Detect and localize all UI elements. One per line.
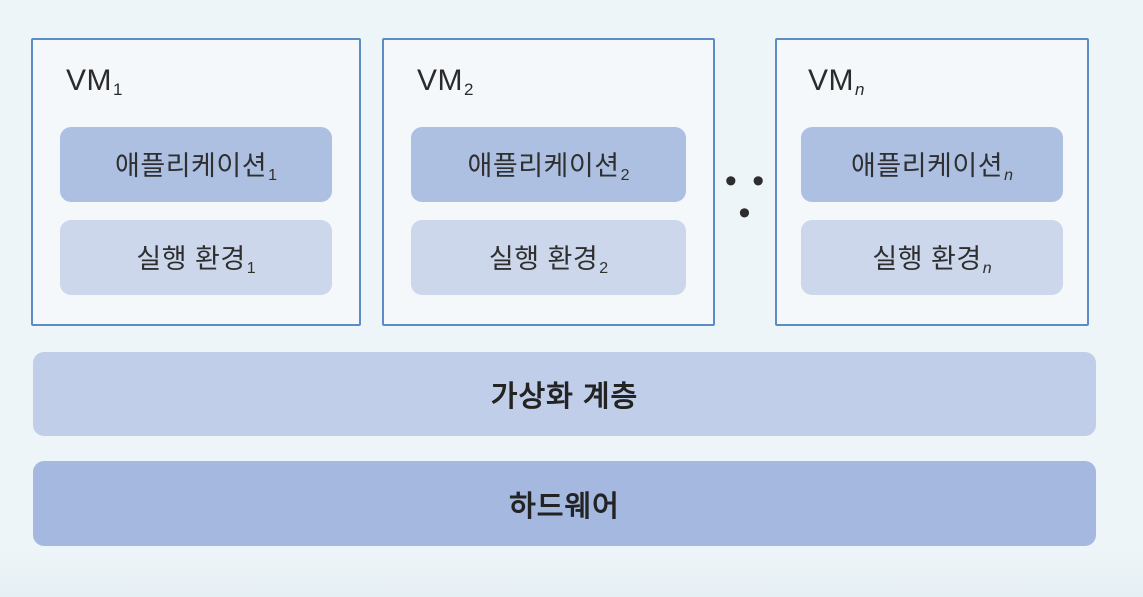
vm-label-1: VM1 <box>66 64 122 100</box>
vm-1-application-text: 애플리케이션 <box>115 151 267 181</box>
vm-box-n: VMn 애플리케이션n 실행 환경n <box>775 38 1089 326</box>
hardware-layer-bar: 하드웨어 <box>33 461 1096 546</box>
vm-2-application-subscript: 2 <box>621 167 630 184</box>
vm-box-2: VM2 애플리케이션2 실행 환경2 <box>382 38 715 326</box>
vm-n-application-text: 애플리케이션 <box>851 151 1003 181</box>
vm-label-2-name: VM <box>417 64 463 97</box>
vm-2-runtime-subscript: 2 <box>599 260 608 277</box>
vm-1-runtime-layer: 실행 환경1 <box>60 220 332 295</box>
vm-box-1: VM1 애플리케이션1 실행 환경1 <box>31 38 361 326</box>
vm-n-application-layer: 애플리케이션n <box>801 127 1063 202</box>
vm-n-application-subscript: n <box>1004 167 1013 184</box>
vm-label-1-subscript: 1 <box>113 80 122 99</box>
vm-1-application-label: 애플리케이션1 <box>115 144 277 185</box>
hardware-layer-label: 하드웨어 <box>509 483 620 525</box>
vm-2-application-label: 애플리케이션2 <box>468 144 630 185</box>
vm-2-runtime-text: 실행 환경 <box>489 244 598 274</box>
vm-label-n-subscript: n <box>855 80 864 99</box>
vm-label-2-subscript: 2 <box>464 80 473 99</box>
vm-1-application-layer: 애플리케이션1 <box>60 127 332 202</box>
vm-n-runtime-text: 실행 환경 <box>872 244 981 274</box>
vm-label-1-name: VM <box>66 64 112 97</box>
vm-n-runtime-subscript: n <box>983 260 992 277</box>
virtualization-layer-label: 가상화 계층 <box>491 373 638 415</box>
vm-label-n-name: VM <box>808 64 854 97</box>
vm-2-runtime-layer: 실행 환경2 <box>411 220 686 295</box>
vm-1-runtime-text: 실행 환경 <box>136 244 245 274</box>
vm-1-runtime-label: 실행 환경1 <box>136 237 255 278</box>
vm-n-runtime-label: 실행 환경n <box>872 237 991 278</box>
vm-2-runtime-label: 실행 환경2 <box>489 237 608 278</box>
vm-label-n: VMn <box>808 64 864 100</box>
vm-1-application-subscript: 1 <box>268 167 277 184</box>
vm-2-application-text: 애플리케이션 <box>468 151 620 181</box>
virtualization-architecture-diagram: VM1 애플리케이션1 실행 환경1 VM2 애플리케이션2 실행 환경2 <box>0 0 1143 597</box>
vm-1-runtime-subscript: 1 <box>247 260 256 277</box>
virtualization-layer-bar: 가상화 계층 <box>33 352 1096 436</box>
vm-label-2: VM2 <box>417 64 473 100</box>
ellipsis-icon: • • • <box>722 165 770 197</box>
vm-2-application-layer: 애플리케이션2 <box>411 127 686 202</box>
vm-n-runtime-layer: 실행 환경n <box>801 220 1063 295</box>
vm-n-application-label: 애플리케이션n <box>851 144 1013 185</box>
